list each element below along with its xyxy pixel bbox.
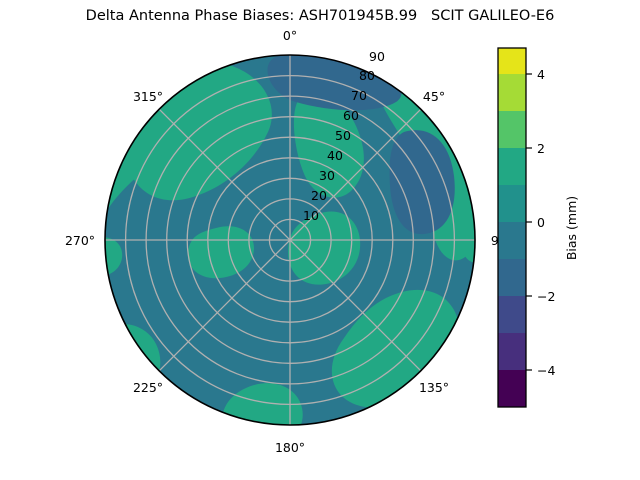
r-tick-40: 40 (327, 148, 343, 163)
colorbar-band-9 (498, 48, 526, 74)
polar-plot-area: 0° 45° 90° 135° 180° 225° 270° 315° 10 2… (0, 0, 640, 480)
colorbar-band-0 (498, 370, 526, 407)
contour-band-1-2-group (89, 334, 129, 378)
polar-chart-svg: 0° 45° 90° 135° 180° 225° 270° 315° 10 2… (0, 0, 640, 480)
theta-tick-135: 135° (419, 380, 449, 395)
r-tick-80: 80 (359, 68, 375, 83)
figure-canvas: Delta Antenna Phase Biases: ASH701945B.9… (0, 0, 640, 480)
theta-tick-270: 270° (65, 233, 95, 248)
colorbar-band-8 (498, 74, 526, 111)
colorbar-band-4 (498, 222, 526, 259)
contour-band-0-1 (458, 174, 500, 263)
theta-tick-315: 315° (133, 89, 163, 104)
r-tick-50: 50 (335, 128, 351, 143)
colorbar-tick-label-4: 4 (537, 67, 545, 82)
colorbar-bands (498, 48, 526, 407)
r-tick-70: 70 (351, 88, 367, 103)
colorbar-tick-label-0: 0 (537, 215, 545, 230)
colorbar-axis-label: Bias (mm) (564, 196, 579, 260)
polar-grid-spokes (105, 55, 475, 425)
theta-tick-0: 0° (283, 28, 297, 43)
theta-tick-45: 45° (423, 89, 445, 104)
colorbar-band-7 (498, 111, 526, 148)
colorbar-tick-label-neg4: −4 (537, 363, 555, 378)
colorbar[interactable]: −4 −2 0 2 4 Bias (mm) (498, 48, 579, 407)
r-tick-60: 60 (343, 108, 359, 123)
colorbar-band-6 (498, 148, 526, 185)
contour-band-0-1 (77, 324, 160, 408)
colorbar-band-3 (498, 259, 526, 296)
r-tick-30: 30 (319, 168, 335, 183)
colorbar-tick-label-2: 2 (537, 141, 545, 156)
theta-tick-225: 225° (133, 380, 163, 395)
colorbar-ticks (526, 74, 532, 370)
theta-tick-180: 180° (275, 440, 305, 455)
colorbar-band-1 (498, 333, 526, 370)
colorbar-band-2 (498, 296, 526, 333)
colorbar-band-5 (498, 185, 526, 222)
colorbar-tick-label-neg2: −2 (537, 289, 555, 304)
contour-band-1-2 (89, 334, 129, 378)
r-tick-10: 10 (303, 208, 319, 223)
r-tick-90: 90 (369, 49, 385, 64)
r-tick-20: 20 (311, 188, 327, 203)
